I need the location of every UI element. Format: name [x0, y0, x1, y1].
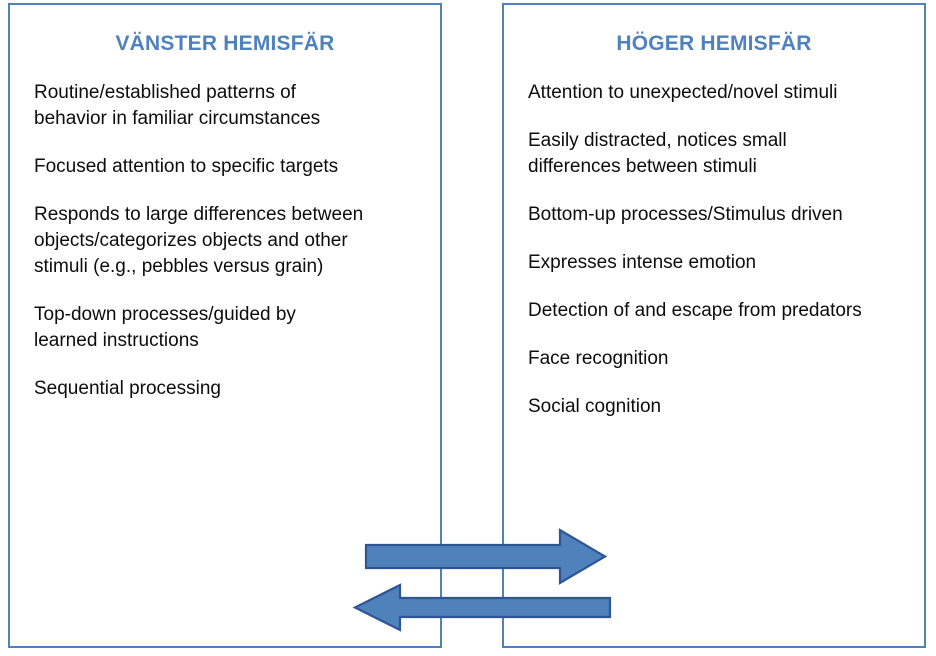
left-hemisphere-item-4: Sequential processing [34, 376, 430, 402]
diagram-canvas: VÄNSTER HEMISFÄR Routine/established pat… [0, 0, 936, 656]
right-hemisphere-panel: HÖGER HEMISFÄR Attention to unexpected/n… [502, 3, 926, 648]
right-hemisphere-title: HÖGER HEMISFÄR [504, 32, 924, 56]
left-hemisphere-panel: VÄNSTER HEMISFÄR Routine/established pat… [8, 3, 442, 648]
right-hemisphere-item-1: Easily distracted, notices small differe… [528, 128, 920, 180]
right-hemisphere-item-2: Bottom-up processes/Stimulus driven [528, 202, 920, 228]
left-hemisphere-item-1: Focused attention to specific targets [34, 154, 430, 180]
left-hemisphere-title: VÄNSTER HEMISFÄR [10, 32, 440, 56]
left-hemisphere-item-0: Routine/established patterns of behavior… [34, 80, 430, 132]
right-hemisphere-item-6: Social cognition [528, 394, 920, 420]
left-hemisphere-item-2: Responds to large differences between ob… [34, 202, 430, 280]
right-hemisphere-item-list: Attention to unexpected/novel stimuliEas… [528, 80, 920, 420]
left-hemisphere-item-3: Top-down processes/guided by learned ins… [34, 302, 430, 354]
right-hemisphere-item-3: Expresses intense emotion [528, 250, 920, 276]
right-hemisphere-item-0: Attention to unexpected/novel stimuli [528, 80, 920, 106]
left-hemisphere-item-list: Routine/established patterns of behavior… [34, 80, 430, 402]
right-hemisphere-item-5: Face recognition [528, 346, 920, 372]
right-hemisphere-item-4: Detection of and escape from predators [528, 298, 920, 324]
